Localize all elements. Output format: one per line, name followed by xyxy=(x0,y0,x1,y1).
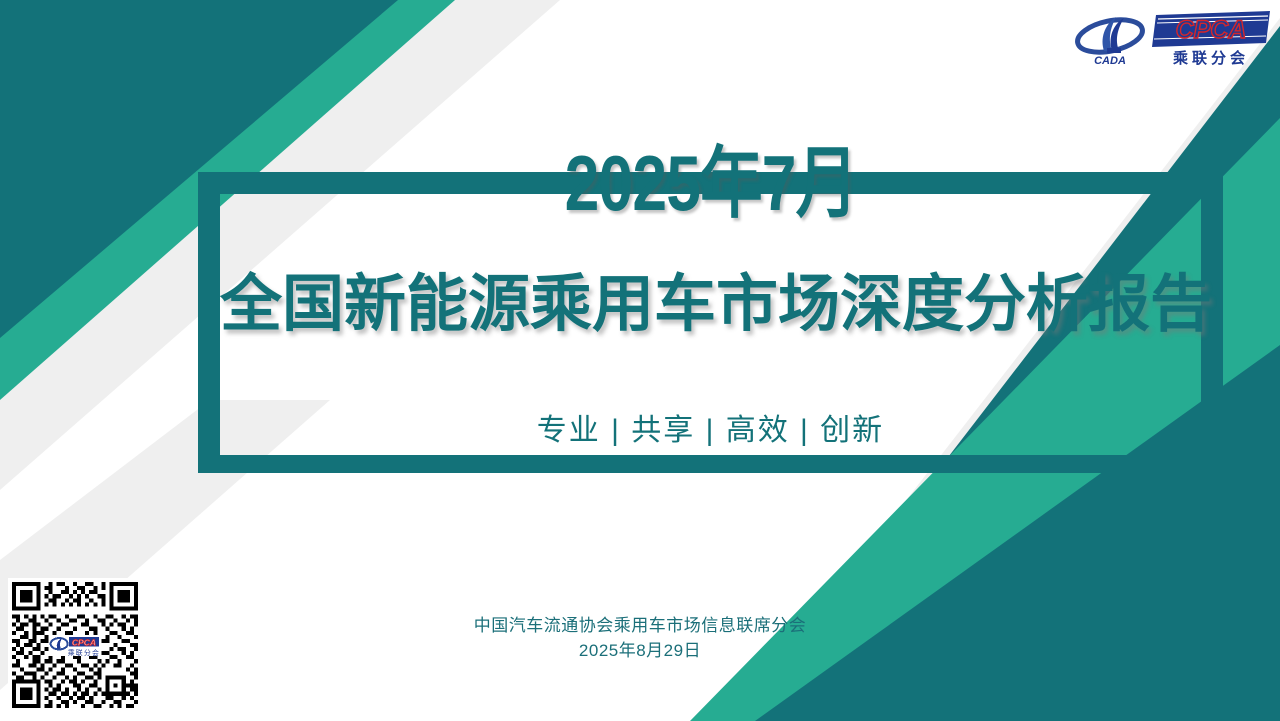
cpca-sub-wordmark: 乘联分会 xyxy=(1172,49,1249,67)
headline-year-row: 2025年7月 xyxy=(198,128,1223,238)
cpca-logo: CADA CPCA 乘联分会 xyxy=(1074,9,1270,67)
cpca-wordmark: CPCA xyxy=(1176,16,1247,44)
qr-center-logo: CPCA 乘联分会 xyxy=(49,635,102,657)
title-slide: 2025年7月 全国新能源乘用车市场深度分析报告 专业 | 共享 | 高效 | … xyxy=(0,0,1280,721)
cada-wordmark: CADA xyxy=(1094,55,1126,67)
qr-center-wordmark: CPCA xyxy=(72,637,96,647)
footer: 中国汽车流通协会乘用车市场信息联席分会 2025年8月29日 xyxy=(0,614,1280,663)
frame-border-bottom xyxy=(198,455,1223,473)
qr-center-sub: 乘联分会 xyxy=(68,648,100,657)
footer-organization: 中国汽车流通协会乘用车市场信息联席分会 xyxy=(0,614,1280,639)
tagline: 专业 | 共享 | 高效 | 创新 xyxy=(220,405,1201,449)
page-title: 全国新能源乘用车市场深度分析报告 xyxy=(220,272,1201,339)
background-decoration xyxy=(0,0,1280,721)
cada-swoosh-icon xyxy=(1075,14,1146,57)
cpca-wordmark-plate: CPCA xyxy=(1152,11,1270,47)
headline-year: 2025年7月 xyxy=(561,144,860,222)
qr-code[interactable]: CPCA 乘联分会 xyxy=(8,578,142,712)
footer-date: 2025年8月29日 xyxy=(0,639,1280,664)
